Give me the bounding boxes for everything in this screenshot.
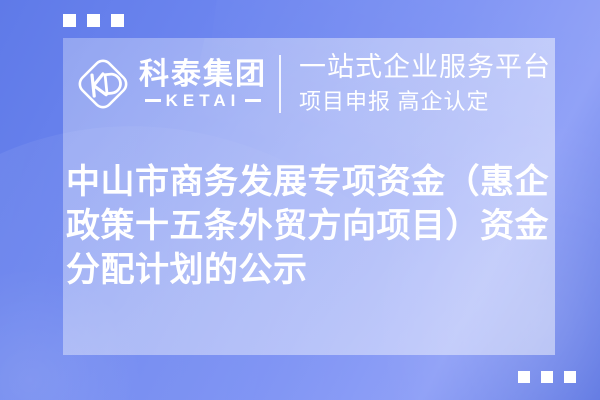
announcement-banner: 科泰集团 KETAI 一站式企业服务平台 项目申报 高企认定 中山市商务发展专项…	[0, 0, 600, 400]
brand-name-en: KETAI	[166, 92, 241, 109]
decorative-square	[63, 14, 76, 27]
decorative-square	[87, 14, 100, 27]
content-panel: 科泰集团 KETAI 一站式企业服务平台 项目申报 高企认定 中山市商务发展专项…	[63, 38, 555, 355]
tagline-main: 一站式企业服务平台	[299, 52, 551, 84]
page-title: 中山市商务发展专项资金（惠企政策十五条外贸方向项目）资金分配计划的公示	[66, 160, 555, 292]
decorative-square	[564, 371, 576, 383]
ketai-diamond-monogram-icon	[73, 54, 133, 114]
brand-name-cn: 科泰集团	[139, 59, 267, 91]
brand-logo[interactable]: 科泰集团 KETAI	[73, 54, 267, 114]
tagline-sub: 项目申报 高企认定	[299, 88, 551, 117]
wordmark-rule-right	[245, 99, 261, 102]
banner-header: 科泰集团 KETAI 一站式企业服务平台 项目申报 高企认定	[63, 38, 555, 130]
brand-name-en-row: KETAI	[145, 92, 262, 109]
header-divider	[279, 55, 281, 113]
decorative-squares-top-left	[63, 14, 124, 27]
brand-wordmark: 科泰集团 KETAI	[139, 59, 267, 110]
decorative-square	[518, 371, 530, 383]
decorative-square	[541, 371, 553, 383]
wordmark-rule-left	[145, 99, 161, 102]
decorative-square	[111, 14, 124, 27]
tagline-block: 一站式企业服务平台 项目申报 高企认定	[299, 52, 551, 116]
decorative-squares-bottom-right	[518, 371, 576, 383]
